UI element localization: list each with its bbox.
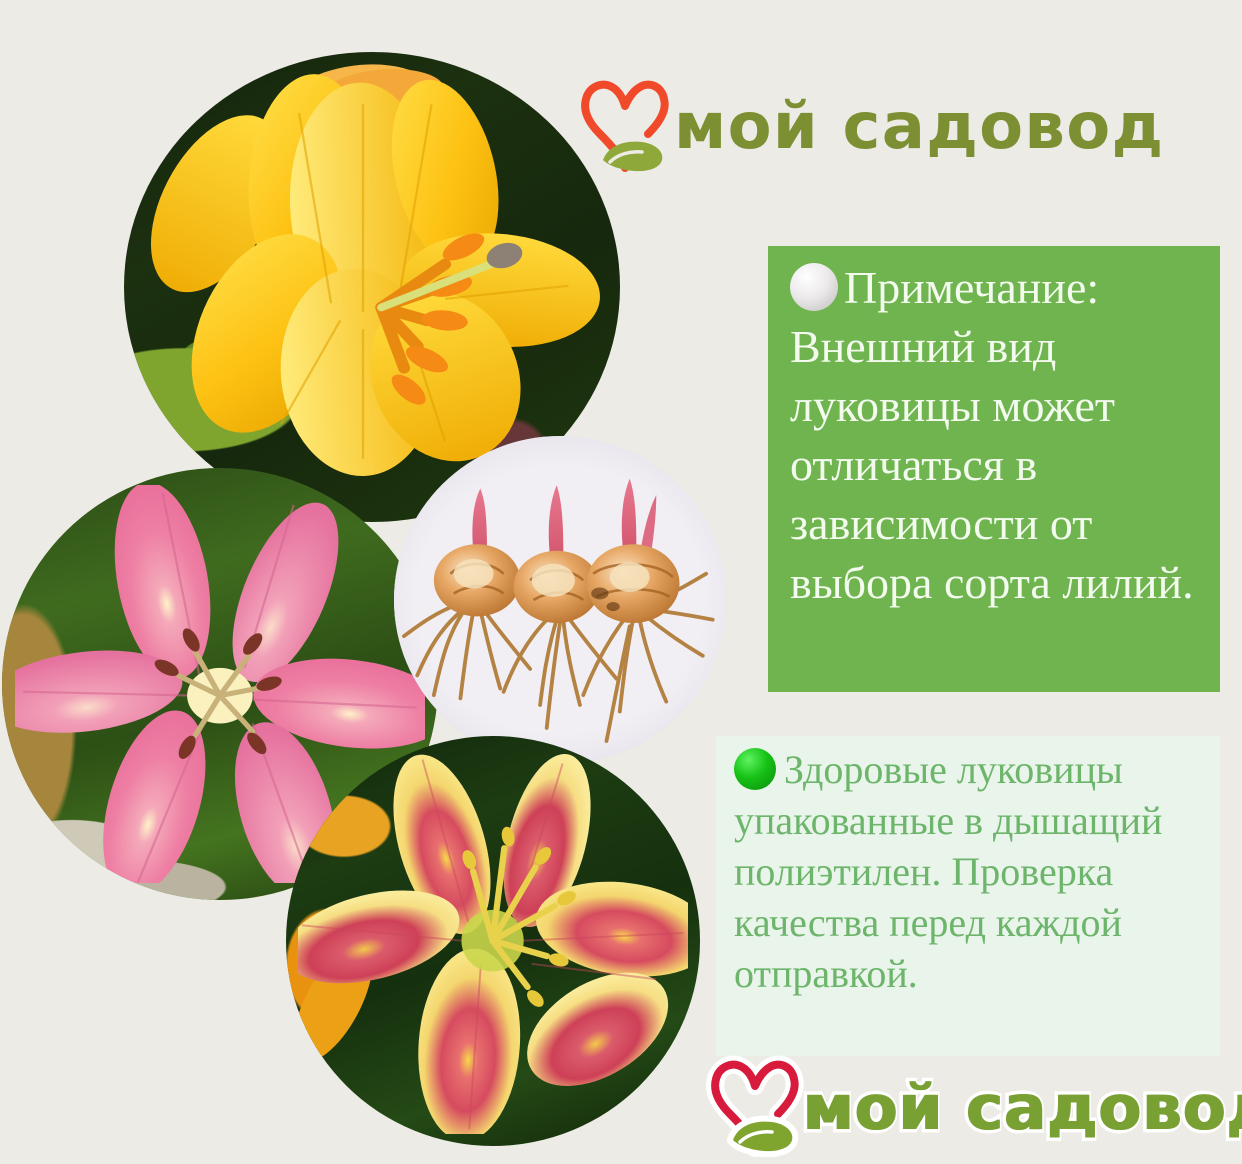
brand-wordmark-header: мой садовод bbox=[674, 90, 1164, 164]
note-panel-text: Примечание: Внешний вид луковицы может о… bbox=[790, 258, 1206, 612]
footer-logo-watermark: мой садовод мой садовод bbox=[706, 1050, 1226, 1164]
logo-mark-header bbox=[576, 72, 680, 182]
yellow-lily-bloom bbox=[144, 61, 600, 493]
note-panel-body: Примечание: Внешний вид луковицы может о… bbox=[790, 262, 1194, 608]
red-yellow-lily-bloom bbox=[298, 748, 687, 1133]
photo-red-yellow-lily bbox=[286, 736, 700, 1146]
quality-panel-body: Здоровые луковицы упакованные в дышащий … bbox=[734, 747, 1162, 996]
leaf-icon bbox=[706, 1052, 810, 1162]
note-panel: Примечание: Внешний вид луковицы может о… bbox=[768, 246, 1220, 692]
bulbs-group bbox=[394, 436, 726, 764]
photo-lily-bulbs bbox=[394, 436, 726, 764]
logo-mark-footer bbox=[706, 1052, 810, 1162]
quality-panel-text: Здоровые луковицы упакованные в дышащий … bbox=[734, 744, 1210, 999]
green-circle-bullet-icon bbox=[734, 748, 776, 790]
quality-panel: Здоровые луковицы упакованные в дышащий … bbox=[716, 736, 1220, 1056]
poster-canvas: мой садовод Примечание: Внешний вид луко… bbox=[0, 0, 1242, 1164]
leaf-icon bbox=[576, 72, 680, 182]
grey-circle-bullet-icon bbox=[790, 263, 838, 311]
brand-wordmark-footer-fill: мой садовод bbox=[804, 1050, 1242, 1164]
header-logo: мой садовод bbox=[576, 62, 1226, 192]
